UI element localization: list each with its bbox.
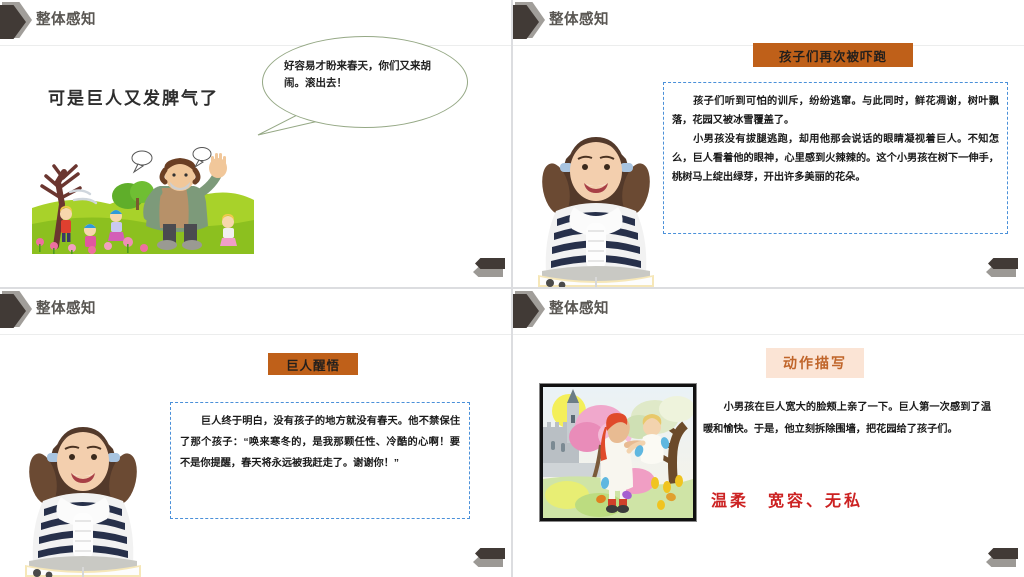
corner-arrow-decoration	[984, 545, 1018, 567]
girl-reading-book-photo	[526, 115, 666, 287]
header-title: 整体感知	[36, 8, 96, 29]
header-title: 整体感知	[549, 8, 609, 29]
body-textbox: 巨人终于明白，没有孩子的地方就没有春天。他不禁保住了那个孩子：“唤来寒冬的，是我…	[170, 402, 470, 519]
slide-4[interactable]: 整体感知 动作描写 小男孩在巨人宽大的脸颊上亲了一下。巨人第一次感到了温暖和愉快…	[513, 289, 1024, 577]
slide-1-title: 可是巨人又发脾气了	[48, 84, 219, 109]
slide-3[interactable]: 整体感知 巨人醒悟 巨人终于明白，没有孩子的地方就没有春天。他不禁保住了那个孩子…	[0, 289, 511, 577]
slide-header: 整体感知	[0, 289, 511, 335]
slide-header: 整体感知	[513, 0, 1024, 46]
speech-bubble-text: 好容易才盼来春天，你们又来胡闹。滚出去！	[284, 58, 444, 92]
giant-and-children-cartoon	[32, 142, 254, 254]
paragraph: 孩子们听到可怕的训斥，纷纷逃窜。与此同时，鲜花凋谢，树叶飘落，花园又被冰雪覆盖了…	[672, 93, 999, 131]
slide-header: 整体感知	[513, 289, 1024, 335]
slide-thumbnail-grid: 整体感知 可是巨人又发脾气了 好容易才盼来春天，你们又来胡闹。滚出去！	[0, 0, 1024, 577]
paragraph: 巨人终于明白，没有孩子的地方就没有春天。他不禁保住了那个孩子：“唤来寒冬的，是我…	[180, 412, 460, 475]
corner-arrow-front-icon	[475, 548, 505, 559]
header-title: 整体感知	[549, 297, 609, 318]
corner-arrow-decoration	[984, 255, 1018, 277]
header-title: 整体感知	[36, 297, 96, 318]
girl-reading-book-photo	[13, 405, 153, 577]
speech-bubble: 好容易才盼来春天，你们又来胡闹。滚出去！	[254, 36, 470, 140]
header-divider	[0, 334, 511, 335]
section-badge: 巨人醒悟	[268, 353, 358, 375]
body-text: 小男孩在巨人宽大的脸颊上亲了一下。巨人第一次感到了温暖和愉快。于是，他立刻拆除围…	[703, 397, 991, 441]
paragraph: 小男孩没有拔腿逃跑，却用他那会说话的眼睛凝视着巨人。不知怎么，巨人看着他的眼神，…	[672, 131, 999, 188]
corner-arrow-decoration	[471, 545, 505, 567]
header-divider	[513, 334, 1024, 335]
slide-2[interactable]: 整体感知 孩子们再次被吓跑 孩子们听到可怕的训斥，纷纷逃窜。与此同时，鲜花凋谢，…	[513, 0, 1024, 287]
giant-kissed-by-boy-watercolor	[540, 384, 696, 521]
corner-arrow-front-icon	[988, 548, 1018, 559]
paragraph: 小男孩在巨人宽大的脸颊上亲了一下。巨人第一次感到了温暖和愉快。于是，他立刻拆除围…	[703, 397, 991, 441]
keywords-text: 温柔 宽容、无私	[711, 487, 863, 511]
section-badge: 动作描写	[766, 348, 864, 378]
corner-arrow-front-icon	[988, 258, 1018, 269]
corner-arrow-decoration	[471, 255, 505, 277]
section-badge: 孩子们再次被吓跑	[753, 43, 913, 67]
slide-1[interactable]: 整体感知 可是巨人又发脾气了 好容易才盼来春天，你们又来胡闹。滚出去！	[0, 0, 511, 287]
body-textbox: 孩子们听到可怕的训斥，纷纷逃窜。与此同时，鲜花凋谢，树叶飘落，花园又被冰雪覆盖了…	[663, 82, 1008, 234]
corner-arrow-front-icon	[475, 258, 505, 269]
